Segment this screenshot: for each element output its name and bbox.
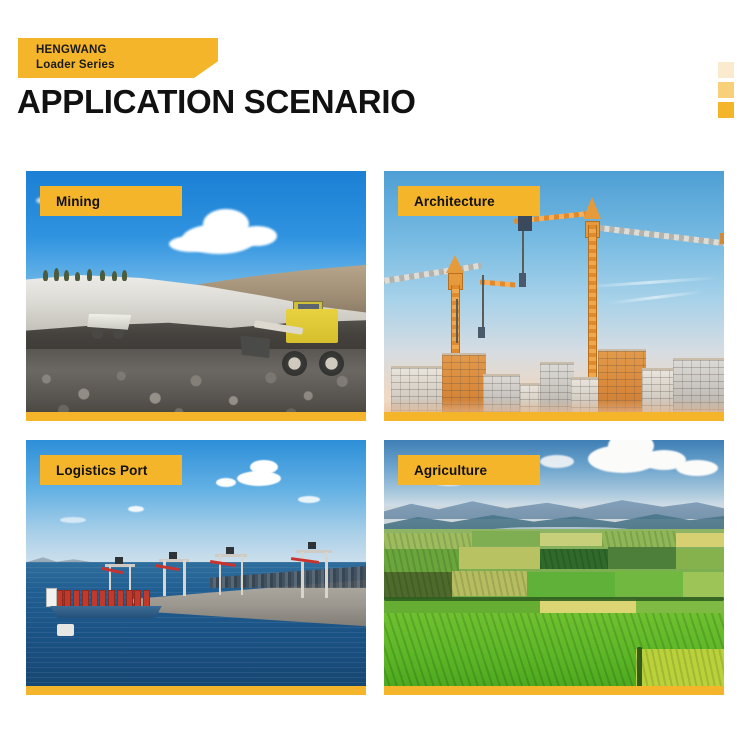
card-label-mining: Mining [40,186,182,216]
scenario-card-grid: Mining [0,0,750,750]
scenario-card-architecture[interactable]: Architecture [384,171,724,421]
card-accent-bar [26,412,366,421]
mining-haul-truck [87,311,131,339]
scenario-card-agriculture[interactable]: Agriculture [384,440,724,695]
container-ship [46,588,162,619]
scenario-card-mining[interactable]: Mining [26,171,366,421]
card-label-architecture: Architecture [398,186,540,216]
scenario-card-logistics-port[interactable]: Logistics Port [26,440,366,695]
tugboat [57,624,74,637]
wheel-loader [240,301,356,376]
card-accent-bar [26,686,366,695]
gantry-crane [291,542,339,598]
card-accent-bar [384,686,724,695]
card-accent-bar [384,412,724,421]
gantry-crane [210,547,254,595]
card-label-agriculture: Agriculture [398,455,540,485]
card-label-logistics-port: Logistics Port [40,455,182,485]
